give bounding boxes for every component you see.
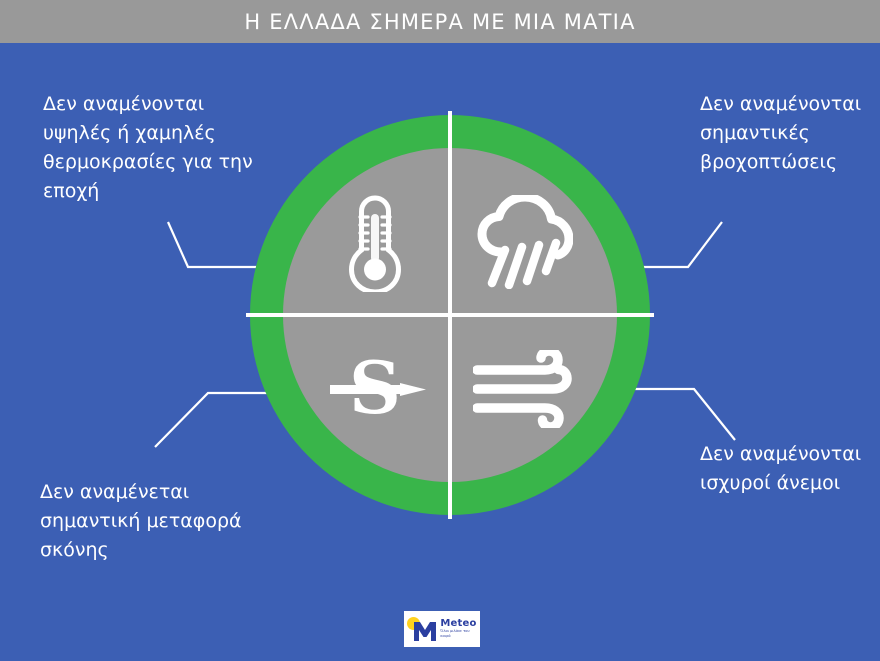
header-bar: Η ΕΛΛΑΔΑ ΣΗΜΕΡΑ ΜΕ ΜΙΑ ΜΑΤΙΑ	[0, 0, 880, 43]
page-title: Η ΕΛΛΑΔΑ ΣΗΜΕΡΑ ΜΕ ΜΙΑ ΜΑΤΙΑ	[244, 10, 635, 34]
callout-rain: Δεν αναμένονται σημαντικές βροχοπτώσεις	[700, 90, 875, 177]
logo-name: Meteo	[440, 619, 476, 629]
quadrant-rain[interactable]	[450, 170, 600, 313]
logo-inner: Meteo Όλοι μιλάνε του καιρό	[407, 617, 476, 641]
quadrant-temperature[interactable]	[300, 170, 450, 313]
callout-wind: Δεν αναμένονται ισχυροί άνεμοι	[700, 440, 875, 498]
thermometer-icon	[346, 192, 404, 292]
callout-temperature: Δεν αναμένονται υψηλές ή χαμηλές θερμοκρ…	[43, 90, 278, 206]
letter-m-icon	[413, 621, 437, 641]
rain-cloud-icon	[477, 195, 573, 289]
logo-mark	[407, 617, 437, 641]
infographic-root: Η ΕΛΛΑΔΑ ΣΗΜΕΡΑ ΜΕ ΜΙΑ ΜΑΤΙΑ	[0, 0, 880, 661]
logo-tagline: Όλοι μιλάνε του καιρό	[440, 629, 474, 638]
quadrant-dust[interactable]: S	[300, 317, 450, 460]
quadrant-wind[interactable]	[450, 317, 600, 460]
weather-wheel: S	[250, 115, 650, 515]
wind-lines-icon	[473, 350, 577, 428]
wheel-divider-horizontal	[246, 313, 654, 317]
meteo-logo[interactable]: Meteo Όλοι μιλάνε του καιρό	[404, 611, 480, 647]
callout-dust: Δεν αναμένεται σημαντική μεταφορά σκόνης	[40, 478, 270, 565]
svg-text:S: S	[349, 350, 401, 428]
sahara-dust-arrow-icon: S	[322, 350, 428, 428]
logo-text: Meteo Όλοι μιλάνε του καιρό	[440, 619, 476, 638]
